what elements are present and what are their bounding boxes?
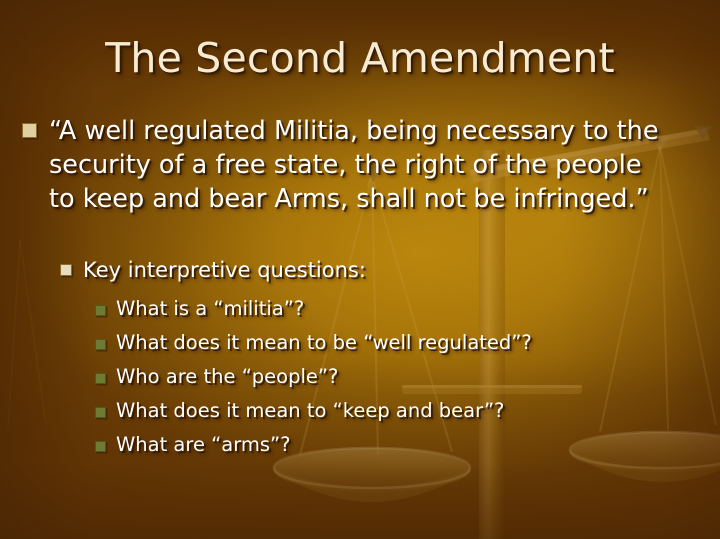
question-text: What does it mean to be “well regulated”… xyxy=(116,330,532,356)
slide-content: The Second Amendment “A well regulated M… xyxy=(0,0,720,539)
list-item: What does it mean to “keep and bear”? xyxy=(95,398,532,432)
bullet-square-level3-icon xyxy=(95,373,106,384)
slide-title: The Second Amendment xyxy=(0,36,720,81)
bullet-square-level3-icon xyxy=(95,305,106,316)
question-text: What does it mean to “keep and bear”? xyxy=(116,398,504,424)
bullet-square-level3-icon xyxy=(95,407,106,418)
bullet-square-level1-icon xyxy=(22,123,37,138)
list-item: What are “arms”? xyxy=(95,432,532,466)
presentation-slide: The Second Amendment “A well regulated M… xyxy=(0,0,720,539)
bullet-square-level3-icon xyxy=(95,339,106,350)
key-questions-heading: Key interpretive questions: xyxy=(83,256,366,284)
question-text: What are “arms”? xyxy=(116,432,291,458)
list-item: What is a “militia”? xyxy=(95,296,532,330)
question-text: What is a “militia”? xyxy=(116,296,304,322)
bullet-square-level3-icon xyxy=(95,441,106,452)
question-text: Who are the “people”? xyxy=(116,364,338,390)
bullet-level1-amendment-quote: “A well regulated Militia, being necessa… xyxy=(22,114,694,216)
bullet-square-level2-icon xyxy=(60,264,72,276)
interpretive-questions-list: What is a “militia”? What does it mean t… xyxy=(95,296,532,466)
list-item: What does it mean to be “well regulated”… xyxy=(95,330,532,364)
list-item: Who are the “people”? xyxy=(95,364,532,398)
amendment-quote-text: “A well regulated Militia, being necessa… xyxy=(49,114,674,216)
bullet-level2-key-questions: Key interpretive questions: xyxy=(60,256,366,284)
